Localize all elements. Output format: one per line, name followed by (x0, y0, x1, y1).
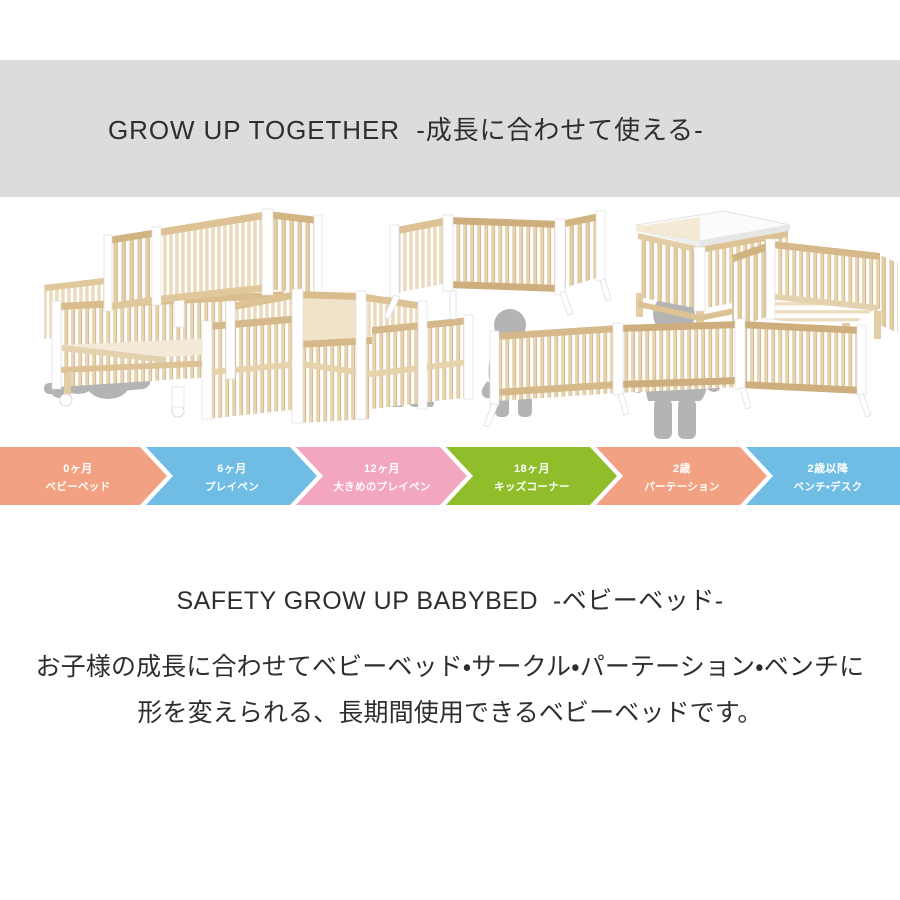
timeline-step-0[interactable]: 0ヶ月 ベビーベッド (0, 447, 167, 505)
timeline-step-use-1: プレイペン (205, 480, 259, 493)
timeline-step-age-5: 2歳以降 (808, 461, 849, 475)
header-banner: GROW UP TOGETHER -成長に合わせて使える- (0, 60, 900, 197)
timeline-svg: 0ヶ月 ベビーベッド 6ヶ月 プレイペン 12ヶ月 大きめのプレイペン 18ヶ月… (0, 447, 900, 505)
product-showcase (0, 197, 900, 447)
timeline-step-use-2: 大きめのプレイペン (333, 480, 430, 493)
description-line-2: 形を変えられる、長期間使用できるベビーベッドです。 (0, 690, 900, 736)
timeline-step-age-0: 0ヶ月 (63, 462, 92, 475)
description-block: SAFETY GROW UP BABYBED -ベビーベッド- お子様の成長に合… (0, 585, 900, 736)
timeline-step-age-3: 18ヶ月 (514, 462, 550, 475)
description-heading: SAFETY GROW UP BABYBED -ベビーベッド- (0, 585, 900, 618)
timeline-step-age-1: 6ヶ月 (217, 462, 246, 475)
description-line-1: お子様の成長に合わせてベビーベッド・サークル・パーテーション・ベンチに (0, 644, 900, 690)
chevron-shape-0 (0, 447, 167, 505)
product-showcase-image (0, 197, 900, 447)
age-stage-timeline: 0ヶ月 ベビーベッド 6ヶ月 プレイペン 12ヶ月 大きめのプレイペン 18ヶ月… (0, 447, 900, 505)
timeline-step-use-5: ベンチ・デスク (794, 480, 863, 493)
timeline-step-use-3: キッズコーナー (494, 480, 570, 493)
timeline-step-age-4: 2歳 (673, 461, 691, 475)
timeline-step-use-4: パーテーション (644, 481, 720, 493)
timeline-step-age-2: 12ヶ月 (364, 462, 400, 475)
timeline-step-use-0: ベビーベッド (46, 480, 111, 493)
page-title: GROW UP TOGETHER -成長に合わせて使える- (108, 110, 704, 147)
